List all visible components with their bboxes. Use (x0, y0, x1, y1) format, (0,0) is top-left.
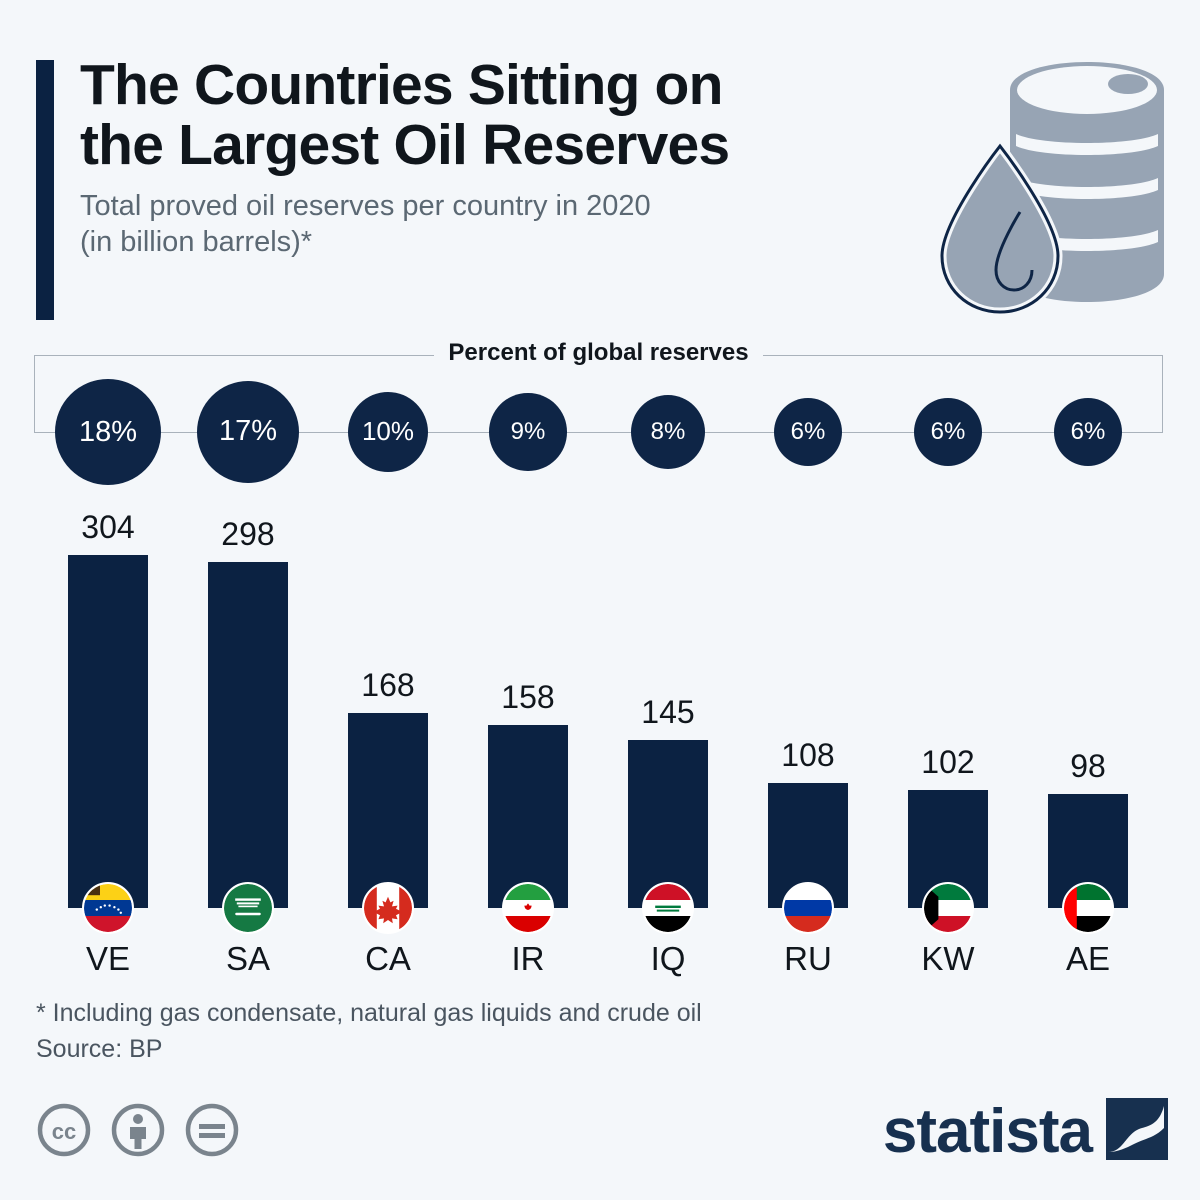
bar-ve[interactable] (68, 555, 148, 908)
bar-value-label-ir: 158 (458, 679, 598, 716)
country-label-kw: KW (878, 940, 1018, 978)
statista-wordmark: statista (883, 1101, 1092, 1163)
flag-icon-ir (502, 882, 554, 934)
bar-value-label-ve: 304 (38, 509, 178, 546)
cc-icon[interactable]: cc (36, 1102, 92, 1158)
cc-by-person-icon[interactable] (110, 1102, 166, 1158)
creative-commons-icons: cc (36, 1102, 240, 1158)
country-label-ve: VE (38, 940, 178, 978)
footnote: * Including gas condensate, natural gas … (36, 995, 702, 1068)
svg-text:cc: cc (52, 1119, 76, 1144)
bar-ca[interactable] (348, 713, 428, 908)
bar-value-label-ru: 108 (738, 737, 878, 774)
flag-icon-ru (782, 882, 834, 934)
bar-value-label-kw: 102 (878, 744, 1018, 781)
bar-value-label-ca: 168 (318, 667, 458, 704)
statista-swoosh-icon (1106, 1098, 1168, 1165)
flag-icon-ae (1062, 882, 1114, 934)
flag-icon-sa (222, 882, 274, 934)
country-label-sa: SA (178, 940, 318, 978)
statista-logo: statista (883, 1098, 1168, 1165)
country-label-ca: CA (318, 940, 458, 978)
flag-icon-iq (642, 882, 694, 934)
bar-ir[interactable] (488, 725, 568, 908)
flag-icon-kw (922, 882, 974, 934)
bar-value-label-sa: 298 (178, 516, 318, 553)
flag-icon-ve (82, 882, 134, 934)
flag-icon-ca (362, 882, 414, 934)
country-label-iq: IQ (598, 940, 738, 978)
country-label-ir: IR (458, 940, 598, 978)
bar-sa[interactable] (208, 562, 288, 908)
bar-value-label-ae: 98 (1018, 748, 1158, 785)
country-label-ru: RU (738, 940, 878, 978)
bar-value-label-iq: 145 (598, 694, 738, 731)
cc-nd-equals-icon[interactable] (184, 1102, 240, 1158)
country-label-ae: AE (1018, 940, 1158, 978)
